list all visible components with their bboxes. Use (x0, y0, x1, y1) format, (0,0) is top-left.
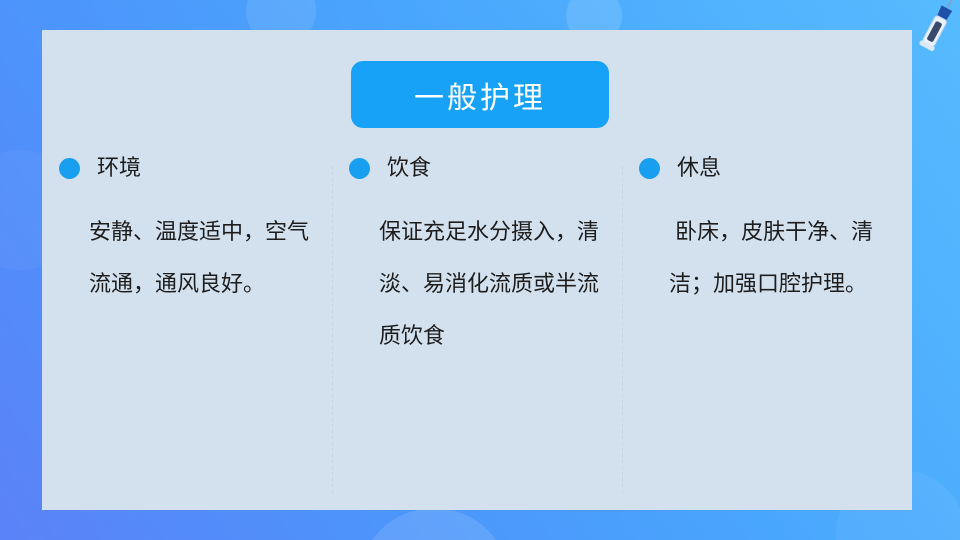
bullet-icon (59, 158, 80, 179)
column-header: 休息 (622, 148, 898, 188)
column-body-rest: 卧床，皮肤干净、清洁；加强口腔护理。 (622, 206, 898, 310)
column-environment: 环境 安静、温度适中，空气流通，通风良好。 (42, 148, 332, 510)
column-diet: 饮食 保证充足水分摄入，清淡、易消化流质或半流质饮食 (332, 148, 622, 510)
syringe-icon (912, 0, 960, 54)
columns-container: 环境 安静、温度适中，空气流通，通风良好。 饮食 保证充足水分摄入，清淡、易消化… (42, 148, 912, 510)
bullet-icon (639, 158, 660, 179)
column-title-diet: 饮食 (387, 157, 431, 179)
page-title: 一般护理 (414, 73, 546, 117)
slide-title-pill: 一般护理 (351, 61, 609, 128)
column-title-environment: 环境 (97, 157, 141, 179)
content-card: 一般护理 环境 安静、温度适中，空气流通，通风良好。 饮食 保证充足水分摄入，清… (42, 30, 912, 510)
slide-canvas: 一般护理 环境 安静、温度适中，空气流通，通风良好。 饮食 保证充足水分摄入，清… (0, 0, 960, 540)
column-rest: 休息 卧床，皮肤干净、清洁；加强口腔护理。 (622, 148, 912, 510)
column-body-environment: 安静、温度适中，空气流通，通风良好。 (42, 206, 318, 310)
column-header: 饮食 (332, 148, 608, 188)
bullet-icon (349, 158, 370, 179)
column-body-diet: 保证充足水分摄入，清淡、易消化流质或半流质饮食 (332, 206, 608, 362)
column-header: 环境 (42, 148, 318, 188)
column-title-rest: 休息 (677, 157, 721, 179)
decorative-circle-bottom-center (358, 508, 510, 540)
